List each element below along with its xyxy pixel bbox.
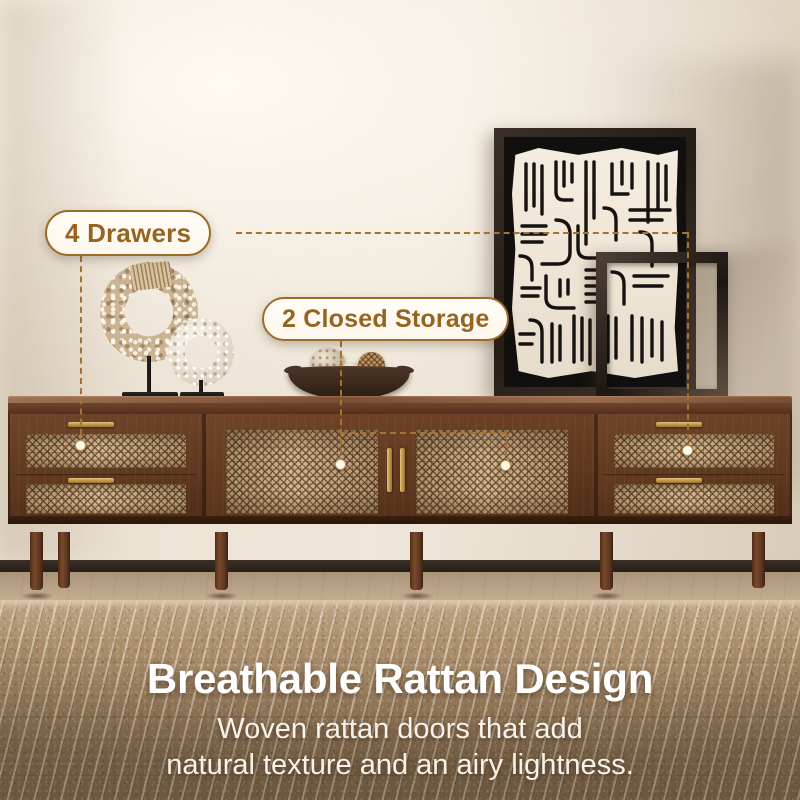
- drawer-divider-2: [604, 474, 784, 476]
- cabinet-leg-5: [600, 532, 613, 590]
- cabinet-leg-1: [30, 532, 43, 590]
- leg-shadow-4: [400, 592, 434, 600]
- callout-line-vertical-door-left: [340, 341, 342, 464]
- callout-dot-right-drawer: [682, 445, 693, 456]
- callout-badge-closed-storage[interactable]: 2 Closed Storage: [262, 297, 509, 341]
- callout-dot-door-right: [500, 460, 511, 471]
- cabinet-base-shadow: [8, 516, 792, 524]
- drawer-pull-3[interactable]: [656, 422, 702, 427]
- cabinet-leg-2: [58, 532, 70, 588]
- cabinet-leg-4: [410, 532, 423, 590]
- callout-dot-left-drawer: [75, 440, 86, 451]
- drawer-pull-2[interactable]: [68, 478, 114, 483]
- callout-line-vertical-left-drawer: [80, 256, 82, 445]
- callout-badge-drawers-label: 4 Drawers: [65, 218, 191, 249]
- callout-badge-closed-storage-label: 2 Closed Storage: [282, 305, 489, 334]
- leg-shadow-1: [20, 592, 54, 600]
- callout-line-vertical-right-drawer: [687, 232, 689, 450]
- drawer-panel-4[interactable]: [614, 484, 774, 514]
- callout-line-horizontal-drawers: [236, 232, 688, 234]
- leg-shadow-5: [590, 592, 624, 600]
- ring-sculpture-comb-detail: [130, 261, 172, 291]
- product-feature-image: 4 Drawers 2 Closed Storage Breathable Ra…: [0, 0, 800, 800]
- cabinet-top-surface: [8, 396, 792, 414]
- drawer-pull-4[interactable]: [656, 478, 702, 483]
- drawer-panel-2[interactable]: [26, 484, 186, 514]
- stand-post-large: [147, 356, 151, 394]
- leg-shadow-3: [205, 592, 239, 600]
- cabinet-door-right[interactable]: [416, 430, 568, 514]
- subline-text-1: Woven rattan doors that add: [0, 712, 800, 747]
- drawer-panel-1[interactable]: [26, 434, 186, 468]
- subline-text-2: natural texture and an airy lightness.: [0, 748, 800, 783]
- ring-sculpture-small-texture: [168, 318, 234, 386]
- headline-text: Breathable Rattan Design: [0, 655, 800, 703]
- cabinet-top-sheen: [8, 396, 792, 403]
- door-pull-left[interactable]: [387, 448, 392, 492]
- drawer-pull-1[interactable]: [68, 422, 114, 427]
- callout-badge-drawers[interactable]: 4 Drawers: [45, 210, 211, 256]
- cabinet-leg-3: [215, 532, 228, 590]
- cabinet-door-left[interactable]: [226, 430, 378, 514]
- callout-line-horizontal-storage: [340, 432, 506, 434]
- drawer-divider-1: [16, 474, 196, 476]
- empty-frame-inner-shadow: [607, 263, 717, 389]
- cane-shading: [26, 484, 186, 514]
- cane-shading: [614, 484, 774, 514]
- cane-shading: [26, 434, 186, 468]
- door-pull-right[interactable]: [400, 448, 405, 492]
- cane-shading: [416, 430, 568, 514]
- cabinet-leg-6: [752, 532, 765, 588]
- cane-shading: [226, 430, 378, 514]
- callout-dot-door-left: [335, 459, 346, 470]
- cane-shading: [614, 434, 774, 468]
- drawer-panel-3[interactable]: [614, 434, 774, 468]
- rattan-sideboard: [8, 396, 792, 536]
